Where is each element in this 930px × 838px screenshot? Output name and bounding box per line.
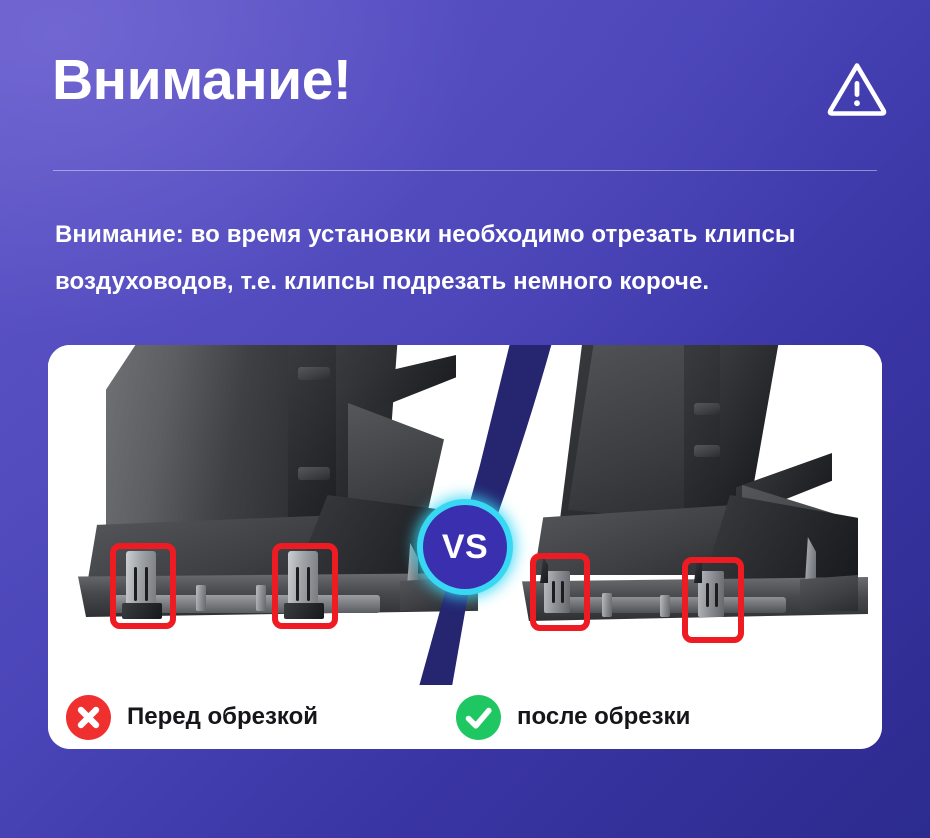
label-after-trim-text: после обрезки bbox=[517, 703, 690, 731]
label-before-trim: Перед обрезкой bbox=[66, 691, 318, 743]
warning-paragraph: Внимание: во время установки необходимо … bbox=[55, 212, 895, 306]
label-before-trim-text: Перед обрезкой bbox=[127, 703, 318, 731]
highlight-box-clip-right bbox=[272, 543, 338, 629]
warning-triangle-icon bbox=[826, 60, 888, 118]
vs-badge-text: VS bbox=[442, 528, 488, 567]
warning-infographic: Внимание! Внимание: во время установки н… bbox=[0, 0, 930, 838]
comparison-labels: Перед обрезкой после обрезки bbox=[48, 685, 882, 749]
label-after-trim: после обрезки bbox=[456, 691, 690, 743]
photo-after-trim bbox=[508, 345, 882, 685]
cross-icon bbox=[66, 695, 111, 740]
header-divider bbox=[53, 170, 877, 171]
highlight-box-clip-right bbox=[682, 557, 744, 643]
vs-badge: VS bbox=[417, 499, 513, 595]
page-title: Внимание! bbox=[52, 52, 351, 109]
check-icon bbox=[456, 695, 501, 740]
photo-after-image bbox=[508, 345, 882, 685]
vs-badge-core: VS bbox=[423, 505, 507, 589]
highlight-box-clip-left bbox=[110, 543, 176, 629]
highlight-box-clip-left bbox=[530, 553, 590, 631]
